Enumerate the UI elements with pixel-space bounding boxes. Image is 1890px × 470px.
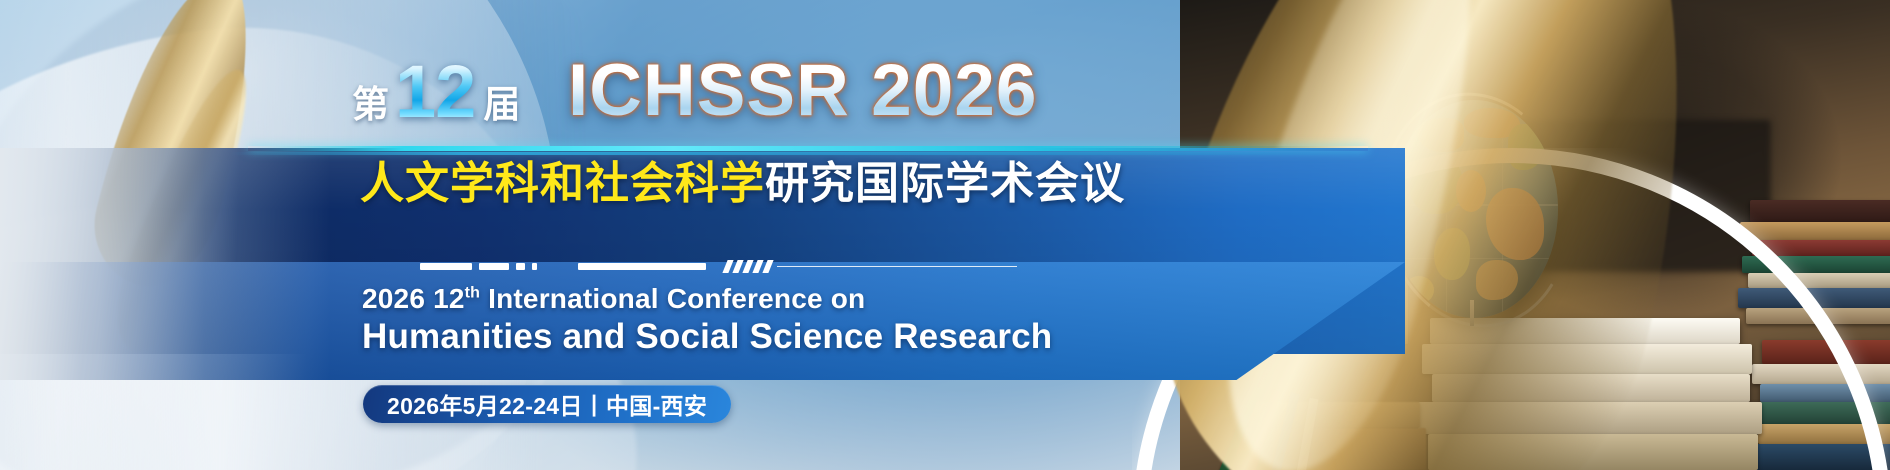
band-top-rule-secondary: [230, 152, 1390, 155]
english-title-line-1: 2026 12th International Conference on: [362, 283, 865, 315]
edition-header: 第 12 届: [352, 58, 520, 126]
edition-suffix: 届: [483, 86, 520, 126]
ordinal-suffix: th: [465, 285, 481, 302]
chinese-subtitle: 人文学科和社会科学研究国际学术会议: [360, 160, 1125, 208]
english-title-pre: 2026 12: [362, 283, 465, 314]
edition-prefix: 第: [352, 86, 389, 126]
english-title-post: International Conference on: [480, 283, 865, 314]
band-top-rule: [248, 146, 1368, 151]
chinese-subtitle-plain-2: 研究国际学术会议: [765, 159, 1125, 208]
decorative-divider: [420, 262, 1017, 271]
english-title-line-2: Humanities and Social Science Research: [362, 317, 1052, 357]
page-title: ICHSSR 2026: [568, 54, 1038, 127]
conference-banner: 第 12 届 ICHSSR 2026 人文学科和社会科学研究国际学术会议 202…: [0, 0, 1890, 470]
chinese-subtitle-plain-1: 和: [540, 159, 585, 208]
band-left-fade: [0, 148, 330, 380]
date-location-badge: 2026年5月22-24日丨中国-西安: [363, 385, 731, 423]
chinese-subtitle-highlight-1: 人文学科: [360, 159, 540, 208]
edition-number: 12: [395, 58, 475, 126]
chinese-subtitle-highlight-2: 社会科学: [585, 159, 765, 208]
